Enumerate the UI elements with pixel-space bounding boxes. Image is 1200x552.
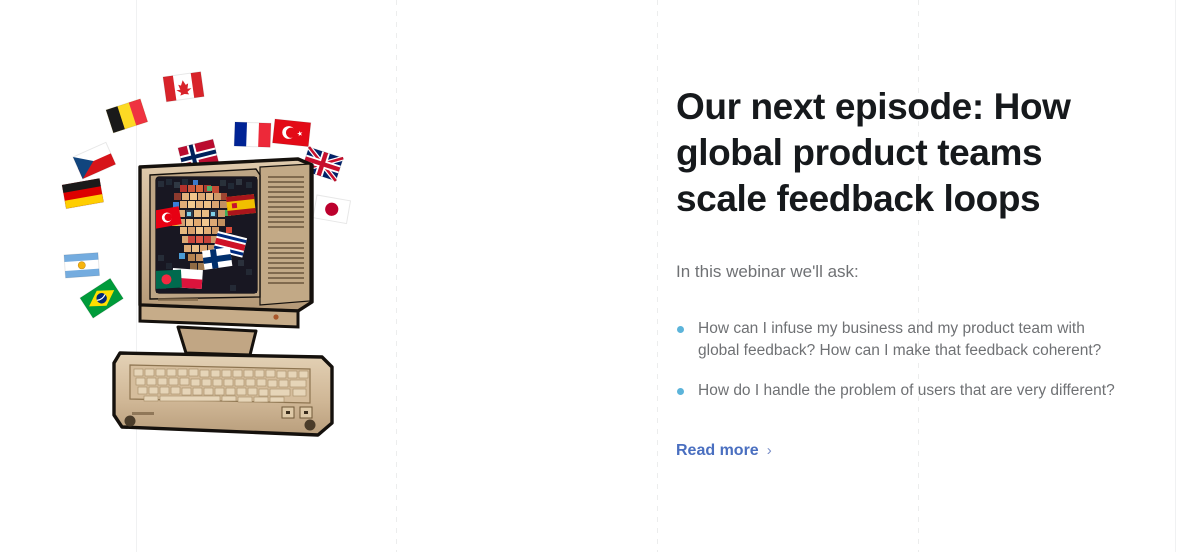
monitor-stand — [178, 327, 256, 355]
chevron-right-icon: › — [767, 442, 772, 459]
flag-argentina — [64, 253, 100, 278]
read-more-row: Read more › — [676, 402, 1128, 460]
list-item-label: How do I handle the problem of users tha… — [698, 382, 1115, 399]
flag-france — [234, 122, 271, 147]
crt-monitor — [140, 159, 312, 355]
bullet-dot-icon — [677, 388, 684, 395]
flag-brazil — [80, 278, 123, 318]
question-list: How can I infuse my business and my prod… — [676, 284, 1128, 402]
screen-overlay-flag-spain — [226, 194, 256, 216]
grid-guide-5 — [1175, 0, 1176, 552]
screen-overlay-flag-finland — [202, 247, 232, 270]
base-brand-label — [132, 412, 154, 415]
read-more-link[interactable]: Read more › — [676, 442, 772, 460]
promo-content: Our next episode: How global product tea… — [676, 84, 1128, 460]
screen-overlay-flag-bangladesh — [154, 270, 182, 289]
bullet-dot-icon — [677, 326, 684, 333]
flag-turkey — [272, 119, 310, 147]
flag-czech-republic — [73, 142, 116, 179]
list-item-label: How can I infuse my business and my prod… — [698, 320, 1101, 359]
vintage-computer-illustration — [60, 55, 410, 455]
flag-japan — [313, 195, 350, 224]
lede-text: In this webinar we'll ask: — [676, 222, 1128, 284]
screen-flag-mosaic-face — [152, 177, 257, 293]
list-item: How can I infuse my business and my prod… — [676, 318, 1128, 362]
read-more-label: Read more — [676, 442, 759, 460]
illustration-vintage-computer-with-flags — [60, 55, 410, 455]
power-led — [273, 314, 278, 319]
list-item: How do I handle the problem of users tha… — [676, 380, 1128, 402]
grid-guide-3 — [657, 0, 658, 552]
base-foot-left — [125, 416, 136, 427]
flag-canada — [163, 72, 204, 102]
monitor-brand-label — [158, 298, 198, 301]
base-foot-right — [305, 420, 316, 431]
page-title: Our next episode: How global product tea… — [676, 84, 1128, 222]
flag-belgium — [106, 99, 148, 133]
flag-germany — [62, 178, 104, 208]
promo-section: Our next episode: How global product tea… — [0, 0, 1200, 552]
keyboard-base-unit — [114, 353, 332, 435]
